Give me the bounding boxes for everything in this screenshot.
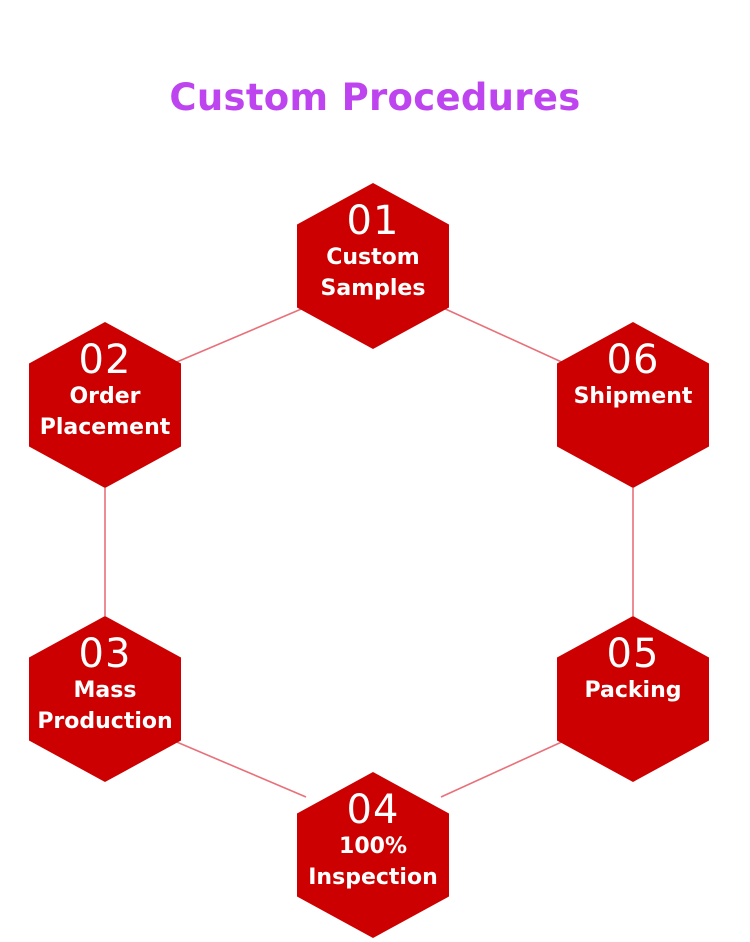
hexagon-shape-06 — [557, 322, 709, 488]
hexagon-shape-02 — [29, 322, 181, 488]
diagram-canvas: Custom Procedures 01Custom Samples02Orde… — [0, 0, 750, 942]
connector-02-to-01 — [172, 307, 306, 364]
hexagon-step-05[interactable]: 05Packing — [557, 616, 709, 782]
connector-05-to-04 — [441, 740, 566, 797]
hexagon-step-01[interactable]: 01Custom Samples — [297, 183, 449, 349]
hexagon-shape-05 — [557, 616, 709, 782]
hexagon-shape-03 — [29, 616, 181, 782]
hexagon-shape-04 — [297, 772, 449, 938]
connector-01-to-06 — [441, 307, 566, 364]
hexagon-shape-01 — [297, 183, 449, 349]
hexagon-step-04[interactable]: 04100% Inspection — [297, 772, 449, 938]
hexagon-step-03[interactable]: 03Mass Production — [29, 616, 181, 782]
hexagon-step-02[interactable]: 02Order Placement — [29, 322, 181, 488]
page-title: Custom Procedures — [0, 72, 750, 124]
connector-04-to-03 — [172, 740, 306, 797]
hexagon-step-06[interactable]: 06Shipment — [557, 322, 709, 488]
